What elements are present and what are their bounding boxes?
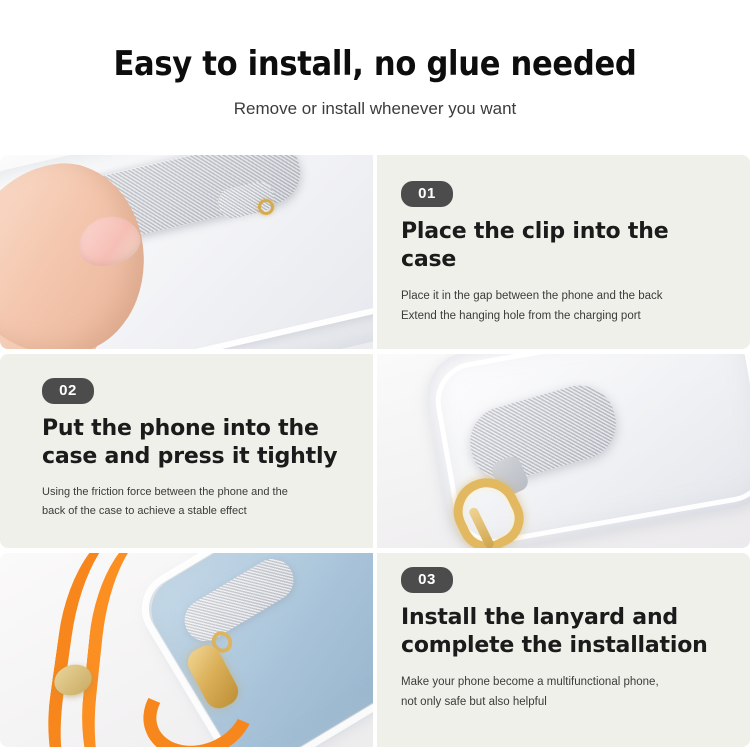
step-desc-line-2: not only safe but also helpful — [401, 692, 728, 712]
step-desc-line-1: Using the friction force between the pho… — [42, 483, 351, 502]
step-title-03: Install the lanyard and complete the ins… — [401, 604, 728, 660]
step-text-03: 03 Install the lanyard and complete the … — [377, 553, 750, 747]
step-badge-03: 03 — [401, 567, 453, 593]
step-title-line-1: Install the lanyard and — [401, 604, 728, 632]
step-title-line-1: Place the clip into the case — [401, 218, 728, 274]
step-desc-03: Make your phone become a multifunctional… — [401, 672, 728, 712]
page-subtitle: Remove or install whenever you want — [0, 99, 750, 119]
step-row-03: 03 Install the lanyard and complete the … — [0, 553, 750, 747]
step-title-line-2: complete the installation — [401, 632, 728, 660]
steps-container: 01 Place the clip into the case Place it… — [0, 155, 750, 747]
step-photo-02 — [377, 354, 750, 548]
step-desc-02: Using the friction force between the pho… — [42, 483, 351, 522]
step-desc-01: Place it in the gap between the phone an… — [401, 286, 728, 326]
step-badge-02: 02 — [42, 378, 94, 404]
step-photo-03 — [0, 553, 373, 747]
photo-case-pad-clasp — [377, 354, 750, 548]
step-badge-01: 01 — [401, 181, 453, 207]
step-title-line-1: Put the phone into the — [42, 415, 351, 443]
step-photo-01 — [0, 155, 373, 349]
step-text-02: 02 Put the phone into the case and press… — [0, 354, 373, 548]
photo-lanyard-phone — [0, 553, 373, 747]
step-row-01: 01 Place the clip into the case Place it… — [0, 155, 750, 349]
header: Easy to install, no glue needed Remove o… — [0, 0, 750, 120]
product-infographic: Easy to install, no glue needed Remove o… — [0, 0, 750, 750]
step-title-02: Put the phone into the case and press it… — [42, 415, 351, 471]
photo-hand-clip-case — [0, 155, 373, 349]
step-desc-line-1: Place it in the gap between the phone an… — [401, 286, 728, 306]
step-title-01: Place the clip into the case — [401, 218, 728, 274]
step-desc-line-2: Extend the hanging hole from the chargin… — [401, 306, 728, 326]
page-title: Easy to install, no glue needed — [0, 46, 750, 83]
step-title-line-2: case and press it tightly — [42, 443, 351, 471]
step-desc-line-2: back of the case to achieve a stable eff… — [42, 502, 351, 521]
step-desc-line-1: Make your phone become a multifunctional… — [401, 672, 728, 692]
step-text-01: 01 Place the clip into the case Place it… — [377, 155, 750, 349]
step-row-02: 02 Put the phone into the case and press… — [0, 354, 750, 548]
